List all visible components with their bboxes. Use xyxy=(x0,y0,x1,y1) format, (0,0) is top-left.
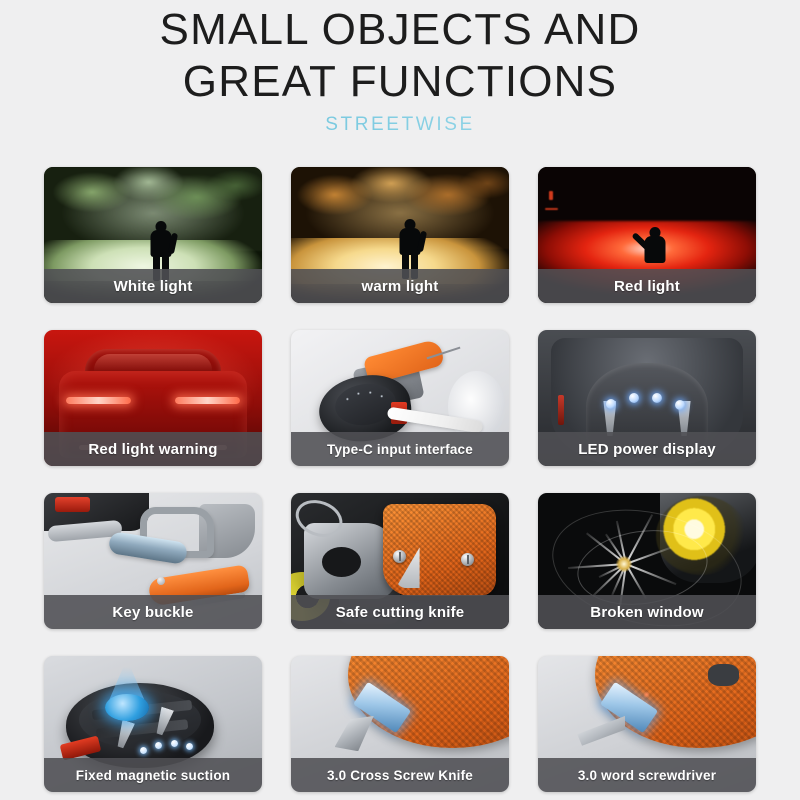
led-indicator-dots xyxy=(606,390,689,412)
page-title-line-1: SMALL OBJECTS AND xyxy=(0,4,800,56)
feature-card-red-light[interactable]: Red light xyxy=(538,167,756,303)
feature-label: White light xyxy=(44,269,262,303)
feature-label: Safe cutting knife xyxy=(291,595,509,629)
feature-card-fixed-magnetic-suction[interactable]: Fixed magnetic suction xyxy=(44,656,262,792)
feature-card-warm-light[interactable]: warm light xyxy=(291,167,509,303)
feature-label: 3.0 Cross Screw Knife xyxy=(291,758,509,792)
feature-label: Type-C input interface xyxy=(291,432,509,466)
led-indicator-dots xyxy=(140,738,197,754)
page-title-line-2: GREAT FUNCTIONS xyxy=(0,56,800,108)
feature-card-red-light-warning[interactable]: Red light warning xyxy=(44,330,262,466)
feature-card-broken-window[interactable]: Broken window xyxy=(538,493,756,629)
feature-card-cross-screw-knife[interactable]: 3.0 Cross Screw Knife xyxy=(291,656,509,792)
feature-card-led-power-display[interactable]: LED power display xyxy=(538,330,756,466)
feature-label: Red light warning xyxy=(44,432,262,466)
feature-label: LED power display xyxy=(538,432,756,466)
feature-label: Red light xyxy=(538,269,756,303)
feature-card-key-buckle[interactable]: Key buckle xyxy=(44,493,262,629)
page-header: SMALL OBJECTS AND GREAT FUNCTIONS STREET… xyxy=(0,0,800,136)
feature-label: Broken window xyxy=(538,595,756,629)
feature-card-word-screwdriver[interactable]: 3.0 word screwdriver xyxy=(538,656,756,792)
feature-label: Key buckle xyxy=(44,595,262,629)
feature-card-safe-cutting-knife[interactable]: Safe cutting knife xyxy=(291,493,509,629)
feature-label: Fixed magnetic suction xyxy=(44,758,262,792)
feature-card-type-c-input[interactable]: Type-C input interface xyxy=(291,330,509,466)
feature-label: 3.0 word screwdriver xyxy=(538,758,756,792)
feature-card-white-light[interactable]: White light xyxy=(44,167,262,303)
feature-grid: White light warm light Red light Red xyxy=(44,167,756,792)
feature-label: warm light xyxy=(291,269,509,303)
brand-subtitle: STREETWISE xyxy=(0,114,800,136)
